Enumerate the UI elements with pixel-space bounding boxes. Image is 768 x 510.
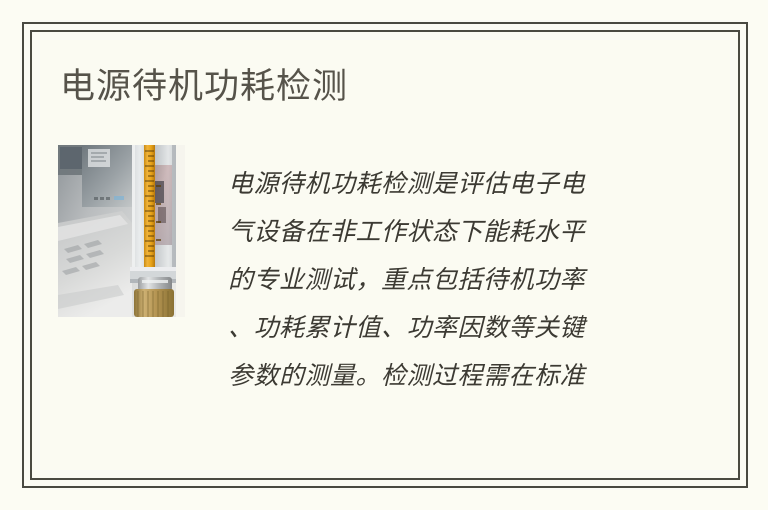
page-title: 电源待机功耗检测: [60, 63, 348, 111]
body-line: 参数的测量。检测过程需在标准: [228, 352, 660, 400]
poster-canvas: 电源待机功耗检测: [0, 0, 768, 510]
body-line: 气设备在非工作状态下能耗水平: [228, 208, 660, 256]
article-body: 电源待机功耗检测是评估电子电 气设备在非工作状态下能耗水平 的专业测试，重点包括…: [228, 160, 660, 400]
body-line: 电源待机功耗检测是评估电子电: [228, 160, 660, 208]
flowmeter-illustration-svg: [58, 145, 185, 317]
body-line: 的专业测试，重点包括待机功率: [228, 256, 660, 304]
flowmeter-photo: [58, 145, 185, 317]
body-line: 、功耗累计值、功率因数等关键: [228, 304, 660, 352]
